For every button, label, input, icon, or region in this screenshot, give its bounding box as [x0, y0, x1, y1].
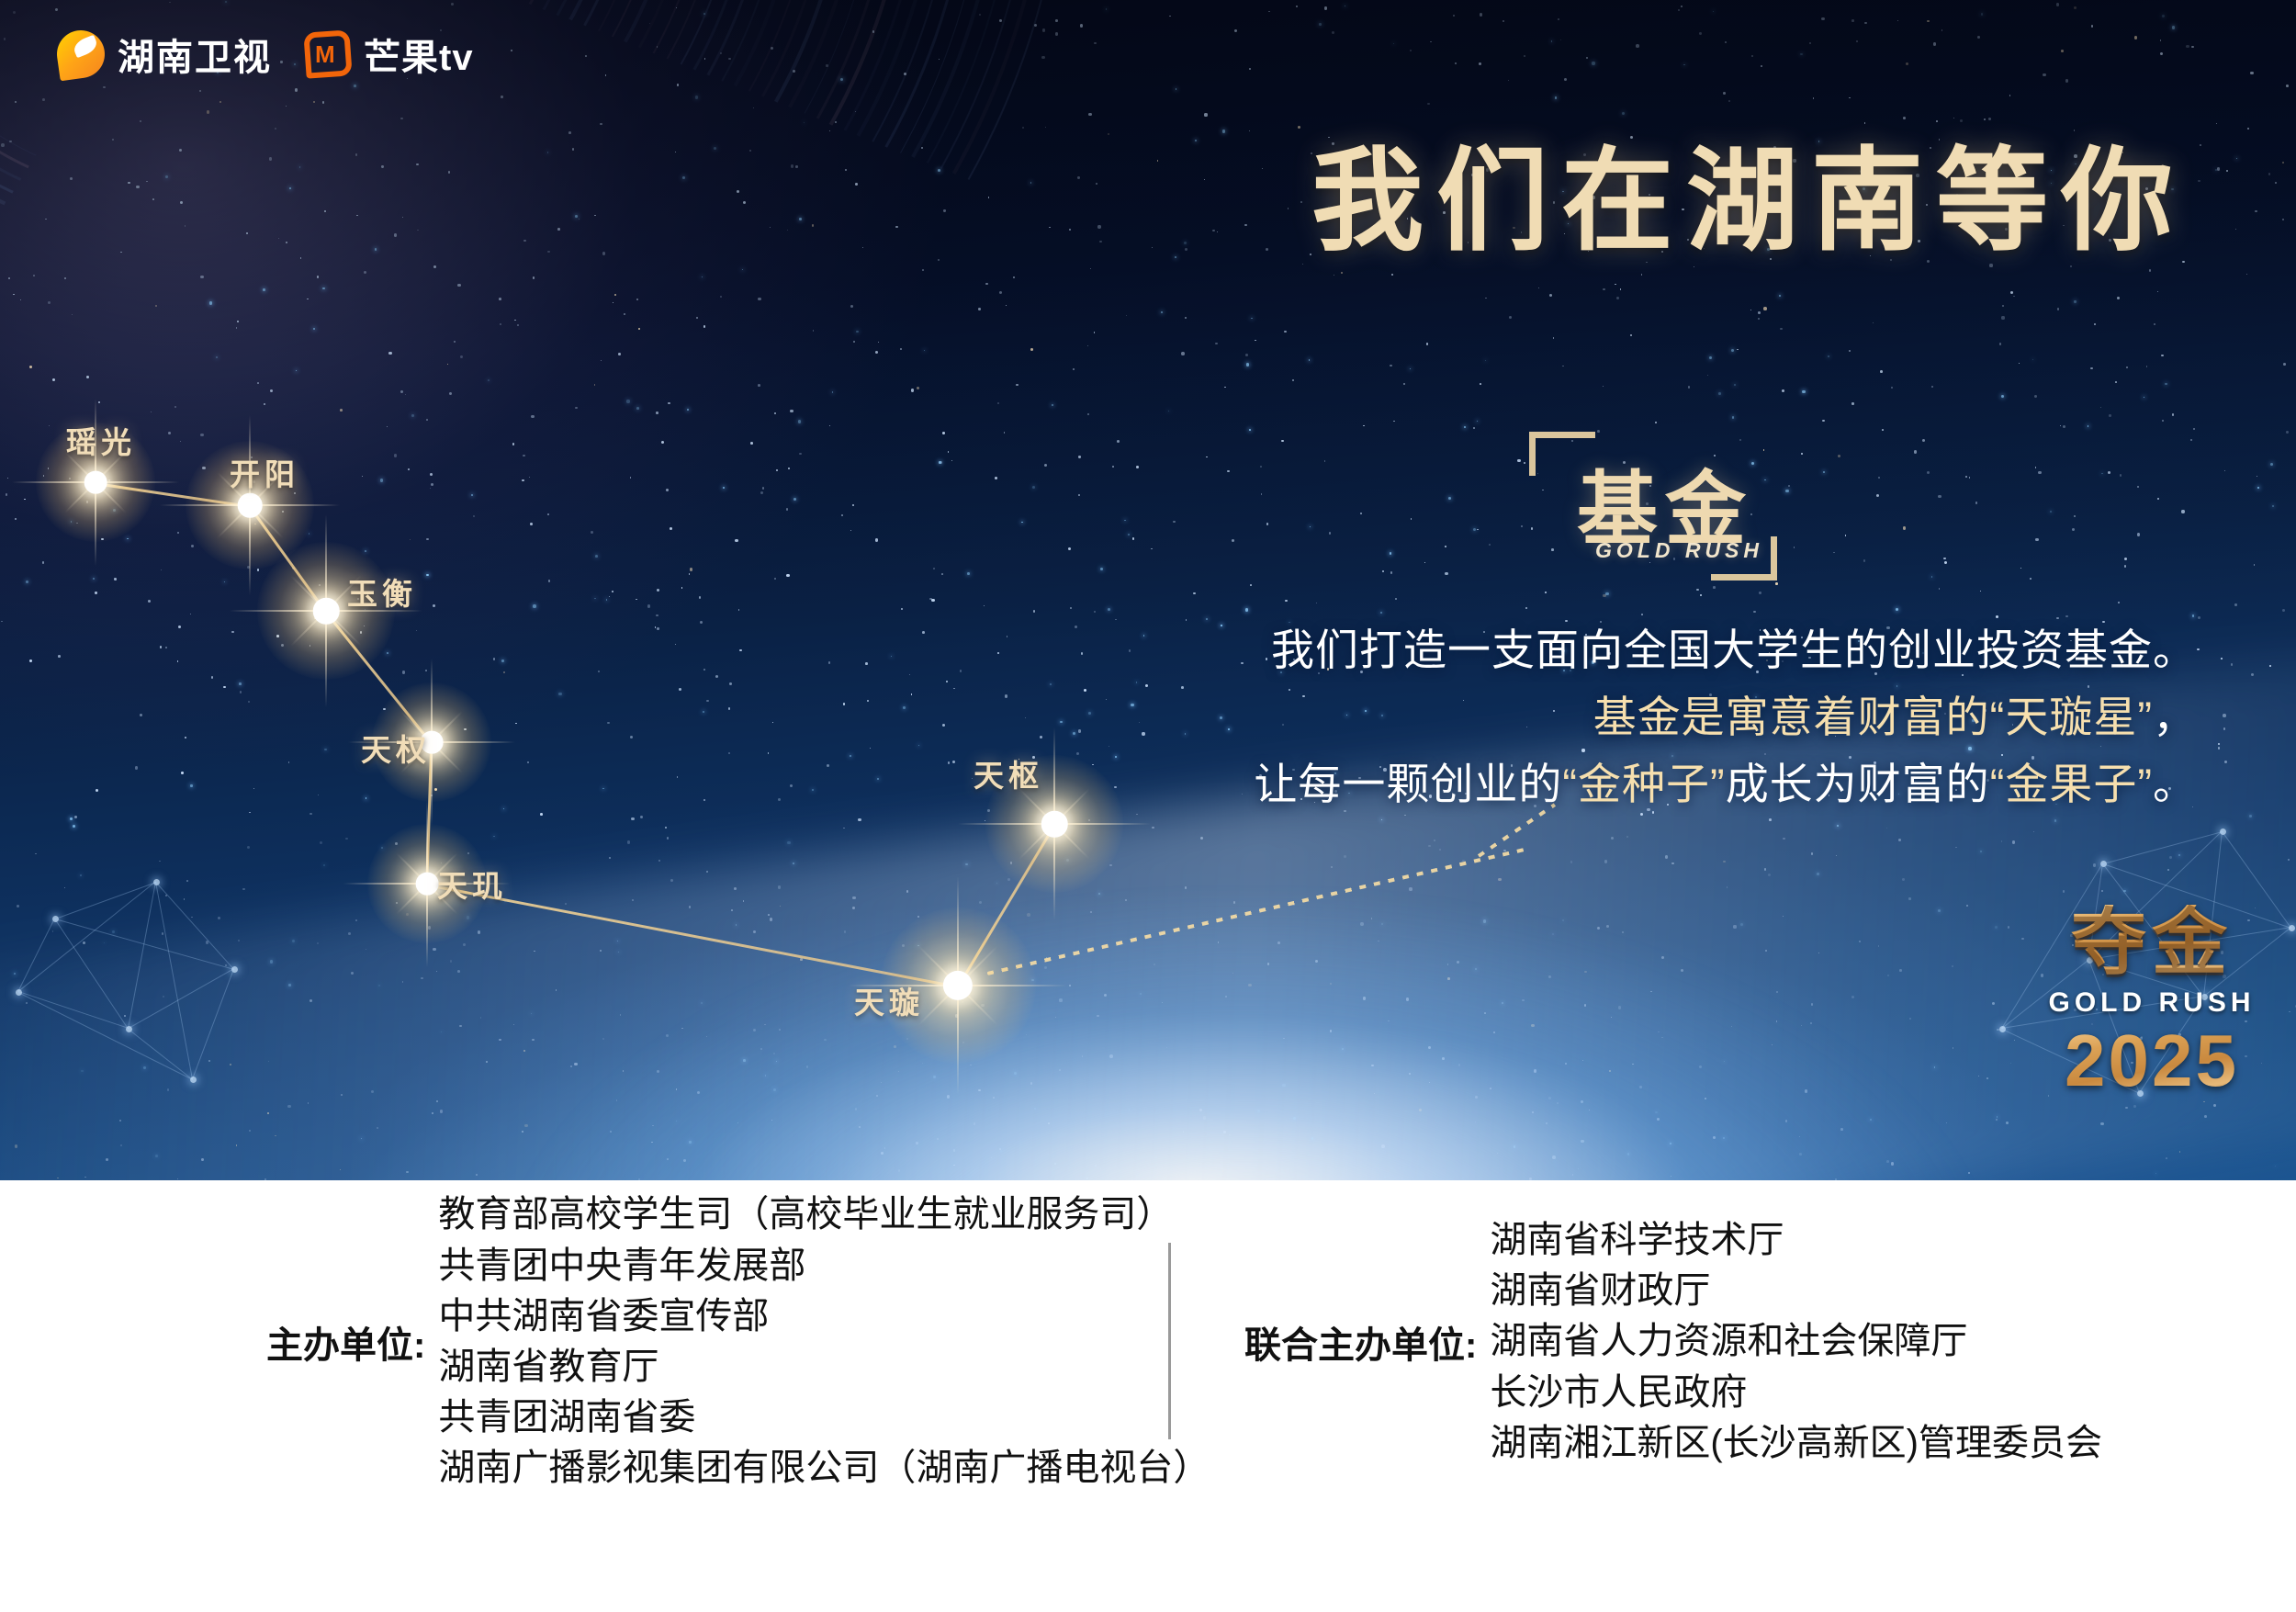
description-line-2-gold: 基金是寓意着财富的“天璇星” [1593, 693, 2153, 741]
page-title: 我们在湖南等你 [1311, 110, 2186, 273]
hunan-tv-label: 湖南卫视 [118, 28, 272, 81]
organizer-item: 湖南广播影视集团有限公司（湖南广播电视台） [438, 1445, 1210, 1492]
organizers-label: 主办单位: [266, 1315, 425, 1369]
mango-tv-logo[interactable]: M 芒果tv [305, 28, 474, 81]
gold-rush-logo-year: 2025 [2037, 1024, 2267, 1098]
gold-rush-logo: 夺金 GOLD RUSH 2025 [2037, 905, 2267, 1098]
description-line-3-a: 让每一颗创业的 [1254, 760, 1562, 808]
gold-rush-logo-en: GOLD RUSH [2037, 987, 2267, 1019]
mgtv-m-glyph: M [315, 42, 335, 66]
organizer-item: 共青团湖南省委 [438, 1394, 1210, 1441]
description-line-3-gold-2: “金果子” [1990, 760, 2153, 808]
fund-title-en: GOLD RUSH [1595, 538, 1763, 563]
organizers-block: 主办单位: 教育部高校学生司（高校毕业生就业服务司）共青团中央青年发展部中共湖南… [266, 1204, 1210, 1480]
description-line-3-tail: 。 [2153, 760, 2197, 808]
organizers-list: 教育部高校学生司（高校毕业生就业服务司）共青团中央青年发展部中共湖南省委宣传部湖… [438, 1191, 1210, 1492]
description-line-2-tail: ， [2153, 693, 2197, 741]
organizer-item: 湖南省人力资源和社会保障厅 [1490, 1318, 2102, 1365]
earth-horizon-glow [514, 900, 1984, 1180]
top-logo-bar: 湖南卫视 M 芒果tv [57, 28, 474, 81]
organizer-item: 湖南湘江新区(长沙高新区)管理委员会 [1490, 1420, 2102, 1467]
organizer-item: 湖南省财政厅 [1490, 1268, 2102, 1314]
organizer-item: 湖南省教育厅 [438, 1344, 1210, 1391]
mango-tv-label: 芒果tv [364, 28, 474, 81]
description-line-3-b: 成长为财富的 [1726, 760, 1990, 808]
mgtv-logo-icon: M [305, 31, 351, 77]
co-organizers-list: 湖南省科学技术厅湖南省财政厅湖南省人力资源和社会保障厅长沙市人民政府湖南湘江新区… [1490, 1217, 2102, 1467]
footer: 主办单位: 教育部高校学生司（高校毕业生就业服务司）共青团中央青年发展部中共湖南… [0, 1180, 2296, 1612]
poster-root: 湖南卫视 M 芒果tv 我们在湖南等你 瑶光开阳玉衡天权天玑天枢天璇 基金 GO… [0, 0, 2296, 1612]
description-line-2: 基金是寓意着财富的“天璇星”， [1254, 684, 2197, 751]
fund-description: 我们打造一支面向全国大学生的创业投资基金。 基金是寓意着财富的“天璇星”， 让每… [1254, 617, 2197, 818]
description-line-3: 让每一颗创业的“金种子”成长为财富的“金果子”。 [1254, 751, 2197, 818]
mango-logo-icon [57, 30, 105, 78]
organizer-item: 湖南省科学技术厅 [1490, 1217, 2102, 1264]
organizer-item: 长沙市人民政府 [1490, 1370, 2102, 1416]
organizer-item: 教育部高校学生司（高校毕业生就业服务司） [438, 1191, 1210, 1238]
organizer-area: 主办单位: 教育部高校学生司（高校毕业生就业服务司）共青团中央青年发展部中共湖南… [0, 1204, 2296, 1480]
organizer-item: 共青团中央青年发展部 [438, 1243, 1210, 1290]
co-organizers-label: 联合主办单位: [1244, 1315, 1477, 1369]
fund-title-block: 基金 GOLD RUSH [1529, 432, 1777, 588]
description-line-3-gold-1: “金种子” [1562, 760, 1725, 808]
co-organizers-block: 联合主办单位: 湖南省科学技术厅湖南省财政厅湖南省人力资源和社会保障厅长沙市人民… [1244, 1204, 2102, 1480]
hunan-tv-logo[interactable]: 湖南卫视 [57, 28, 272, 81]
organizer-item: 中共湖南省委宣传部 [438, 1293, 1210, 1340]
description-line-1: 我们打造一支面向全国大学生的创业投资基金。 [1254, 617, 2197, 684]
gold-rush-logo-cn: 夺金 [2037, 905, 2267, 980]
footer-vertical-divider [1168, 1243, 1171, 1439]
